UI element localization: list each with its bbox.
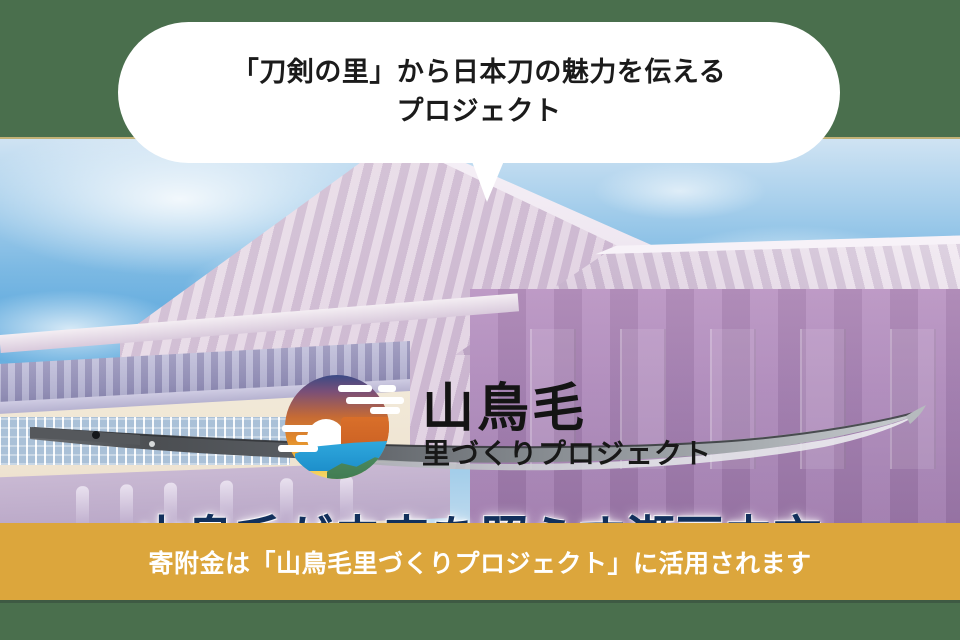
hero-headline: 山鳥毛が未来を照らす瀬戸内市 xyxy=(0,499,960,523)
logo-text-lockup: 山鳥毛 里づくりプロジェクト xyxy=(422,382,712,470)
satozukuri-circle-emblem-icon xyxy=(282,373,408,479)
speech-bubble: 「刀剣の里」から日本刀の魅力を伝える プロジェクト xyxy=(118,22,840,163)
emblem-cloud xyxy=(296,435,322,442)
speech-bubble-text: 「刀剣の里」から日本刀の魅力を伝える プロジェクト xyxy=(232,54,726,131)
donation-banner-text: 寄附金は「山鳥毛里づくりプロジェクト」に活用されます xyxy=(148,544,811,580)
emblem-cloud xyxy=(338,385,372,392)
emblem-cloud xyxy=(370,407,400,414)
emblem-cloud xyxy=(282,425,328,432)
emblem-cloud xyxy=(278,445,318,452)
logo-subtitle: 里づくりプロジェクト xyxy=(422,439,712,470)
emblem-cloud xyxy=(378,385,396,392)
promo-banner-root: 山鳥毛 里づくりプロジェクト 山鳥毛が未来を照らす瀬戸内市 寄附金は「山鳥毛里づ… xyxy=(0,0,960,640)
logo-main-title: 山鳥毛 xyxy=(422,382,712,437)
emblem-cloud xyxy=(346,397,404,404)
donation-banner: 寄附金は「山鳥毛里づくりプロジェクト」に活用されます xyxy=(0,523,960,603)
mekugi-ana-hole xyxy=(92,431,100,439)
speech-bubble-tail-icon xyxy=(470,156,514,202)
project-logo: 山鳥毛 里づくりプロジェクト xyxy=(282,373,712,479)
